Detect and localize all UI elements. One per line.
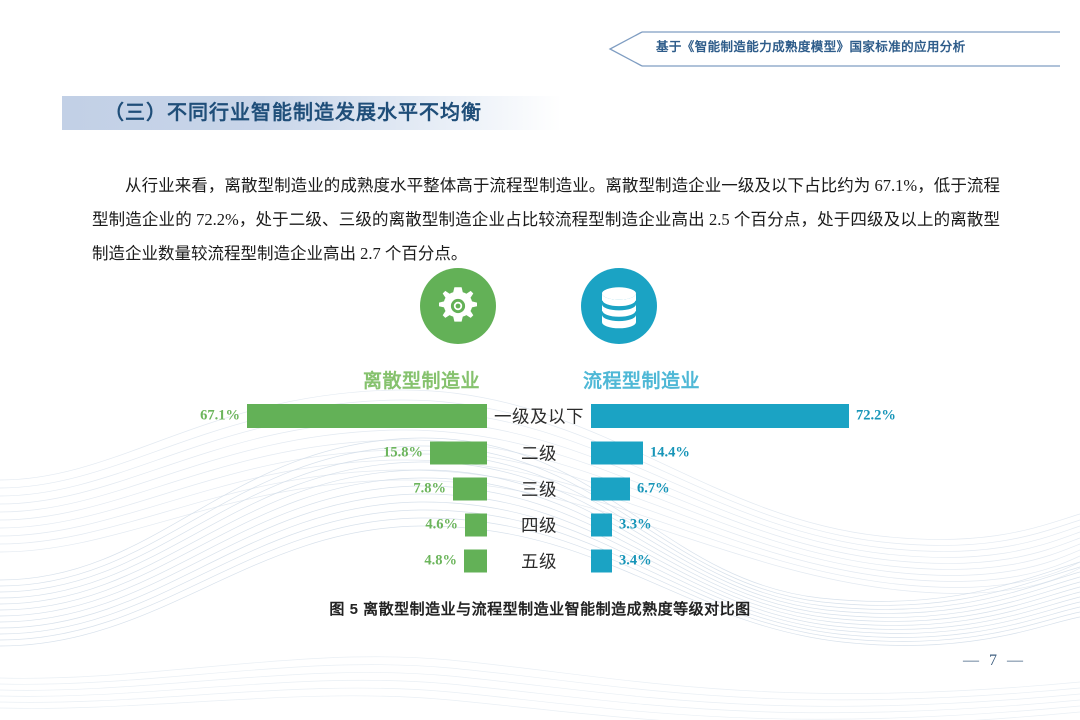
value-left: 7.8% <box>413 480 446 497</box>
running-head-text: 基于《智能制造能力成熟度模型》国家标准的应用分析 <box>656 36 1060 55</box>
chart-row: 7.8% 三级 6.7% <box>0 471 1080 506</box>
section-heading-title: （三）不同行业智能制造发展水平不均衡 <box>104 98 482 129</box>
chart-row: 67.1% 一级及以下 72.2% <box>0 398 1080 434</box>
running-head: 基于《智能制造能力成熟度模型》国家标准的应用分析 <box>608 30 1060 68</box>
category-label: 四级 <box>487 512 591 537</box>
page-number: — 7 — <box>0 652 1080 670</box>
bar-left <box>465 513 487 536</box>
bar-right <box>591 441 643 464</box>
category-label: 二级 <box>487 440 591 465</box>
value-left: 4.8% <box>424 552 457 569</box>
right-series-cell: 14.4% <box>591 435 1011 470</box>
body-paragraph: 从行业来看，离散型制造业的成熟度水平整体高于流程型制造业。离散型制造企业一级及以… <box>92 169 1000 271</box>
figure-caption: 图 5 离散型制造业与流程型制造业智能制造成熟度等级对比图 <box>0 598 1080 619</box>
bar-left <box>430 441 487 464</box>
bar-left <box>464 549 487 572</box>
value-left: 15.8% <box>383 444 423 461</box>
left-series-cell: 7.8% <box>0 471 487 506</box>
right-series-cell: 3.3% <box>591 507 1011 542</box>
chart-row: 4.8% 五级 3.4% <box>0 543 1080 578</box>
right-series-cell: 3.4% <box>591 543 1011 578</box>
right-series-cell: 72.2% <box>591 398 1011 434</box>
figure-chart: 离散型制造业 流程型制造业 67.1% 一级及以下 72.2% 15.8% <box>0 268 1080 628</box>
value-right: 6.7% <box>637 480 670 497</box>
bar-left <box>247 404 487 428</box>
category-label: 五级 <box>487 548 591 573</box>
value-right: 72.2% <box>856 408 896 425</box>
value-right: 3.4% <box>619 552 652 569</box>
category-label: 三级 <box>487 476 591 501</box>
bar-right <box>591 513 612 536</box>
left-series-cell: 15.8% <box>0 435 487 470</box>
value-right: 14.4% <box>650 444 690 461</box>
chart-rows: 67.1% 一级及以下 72.2% 15.8% 二级 14.4% <box>0 398 1080 579</box>
value-left: 4.6% <box>425 516 458 533</box>
legend-process-manufacturing: 流程型制造业 <box>583 366 700 393</box>
right-series-cell: 6.7% <box>591 471 1011 506</box>
bar-right <box>591 404 849 428</box>
chart-row: 4.6% 四级 3.3% <box>0 507 1080 542</box>
bar-left <box>453 477 487 500</box>
left-series-cell: 4.6% <box>0 507 487 542</box>
chart-row: 15.8% 二级 14.4% <box>0 435 1080 470</box>
gear-icon <box>420 268 496 344</box>
value-left: 67.1% <box>200 408 240 425</box>
legend-discrete-manufacturing: 离散型制造业 <box>363 366 480 393</box>
left-series-cell: 67.1% <box>0 398 487 434</box>
bar-right <box>591 549 612 572</box>
document-page: 基于《智能制造能力成熟度模型》国家标准的应用分析 （三）不同行业智能制造发展水平… <box>0 0 1080 720</box>
bar-right <box>591 477 630 500</box>
category-label: 一级及以下 <box>487 404 591 429</box>
value-right: 3.3% <box>619 516 652 533</box>
database-cylinder-icon <box>581 268 657 344</box>
left-series-cell: 4.8% <box>0 543 487 578</box>
